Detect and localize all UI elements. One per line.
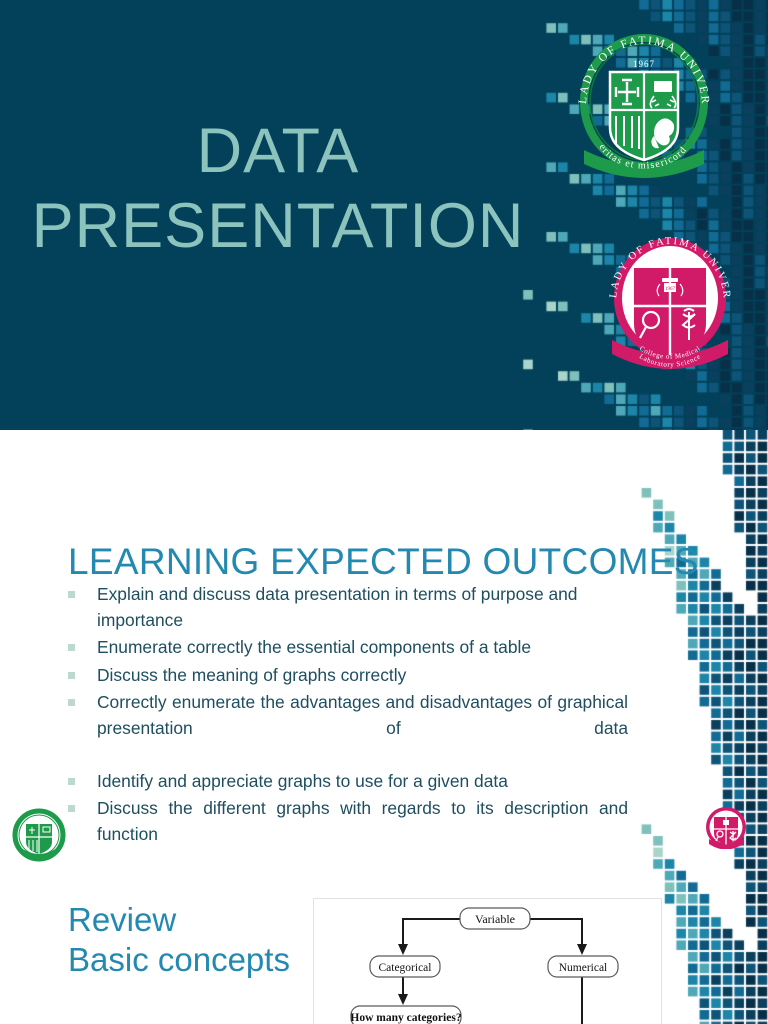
list-item: Discuss the different graphs with regard… xyxy=(68,796,628,873)
list-item-label: Identify and appreciate graphs to use fo… xyxy=(97,769,628,795)
list-item-label: Explain and discuss data presentation in… xyxy=(97,582,628,633)
diagram-node-how-many-categories: How many categories? xyxy=(350,1006,461,1024)
bullet-square-icon xyxy=(68,644,75,651)
list-item-label: Correctly enumerate the advantages and d… xyxy=(97,690,628,767)
variable-classification-diagram: Variable Categorical Numerical How many … xyxy=(313,898,662,1024)
slide-title: DATA PRESENTATION OUR LADY OF FATIMA UNI… xyxy=(0,0,768,430)
diagram-node-numerical: Numerical xyxy=(548,956,618,977)
list-item: Enumerate correctly the essential compon… xyxy=(68,635,628,661)
title-line-1: DATA xyxy=(0,114,556,188)
diagram-node-variable: Variable xyxy=(460,908,530,929)
list-item-label: Discuss the meaning of graphs correctly xyxy=(97,663,628,689)
list-item: Discuss the meaning of graphs correctly xyxy=(68,663,628,689)
university-seal-green-icon: OUR LADY OF FATIMA UNIVERSITY xyxy=(566,24,722,184)
seal-year: 1967 xyxy=(633,59,655,69)
diagram-node-label: Variable xyxy=(475,912,515,926)
bullet-square-icon xyxy=(68,778,75,785)
college-seal-pink-icon: OUR LADY OF FATIMA UNIVERSITY 1967 xyxy=(600,228,740,372)
diagram-node-label: How many categories? xyxy=(350,1012,461,1024)
bullet-square-icon xyxy=(68,591,75,598)
seal-year: 1967 xyxy=(665,287,676,292)
college-seal-pink-small-icon xyxy=(704,805,748,849)
list-item: Correctly enumerate the advantages and d… xyxy=(68,690,628,767)
list-item: Explain and discuss data presentation in… xyxy=(68,582,628,633)
list-item-label: Discuss the different graphs with regard… xyxy=(97,796,628,873)
diagram-node-categorical: Categorical xyxy=(370,956,440,977)
list-item: Identify and appreciate graphs to use fo… xyxy=(68,769,628,795)
university-seal-green-small-icon xyxy=(12,808,66,862)
diagram-node-label: Categorical xyxy=(378,962,431,974)
list-item-label: Enumerate correctly the essential compon… xyxy=(97,635,628,661)
diagram-node-label: Numerical xyxy=(559,962,608,974)
bullet-square-icon xyxy=(68,805,75,812)
presentation-deck: DATA PRESENTATION OUR LADY OF FATIMA UNI… xyxy=(0,0,768,1024)
title-line-2: PRESENTATION xyxy=(0,189,556,263)
review-line-1: Review xyxy=(68,900,290,940)
bullet-square-icon xyxy=(68,672,75,679)
section-heading: LEARNING EXPECTED OUTCOMES xyxy=(68,541,699,583)
page-title: DATA PRESENTATION xyxy=(0,114,556,263)
review-line-2: Basic concepts xyxy=(68,940,290,980)
bullet-square-icon xyxy=(68,699,75,706)
slide-learning-outcomes: LEARNING EXPECTED OUTCOMES Explain and d… xyxy=(0,430,768,1024)
review-subtitle: Review Basic concepts xyxy=(68,900,290,980)
learning-outcomes-list: Explain and discuss data presentation in… xyxy=(68,582,628,875)
